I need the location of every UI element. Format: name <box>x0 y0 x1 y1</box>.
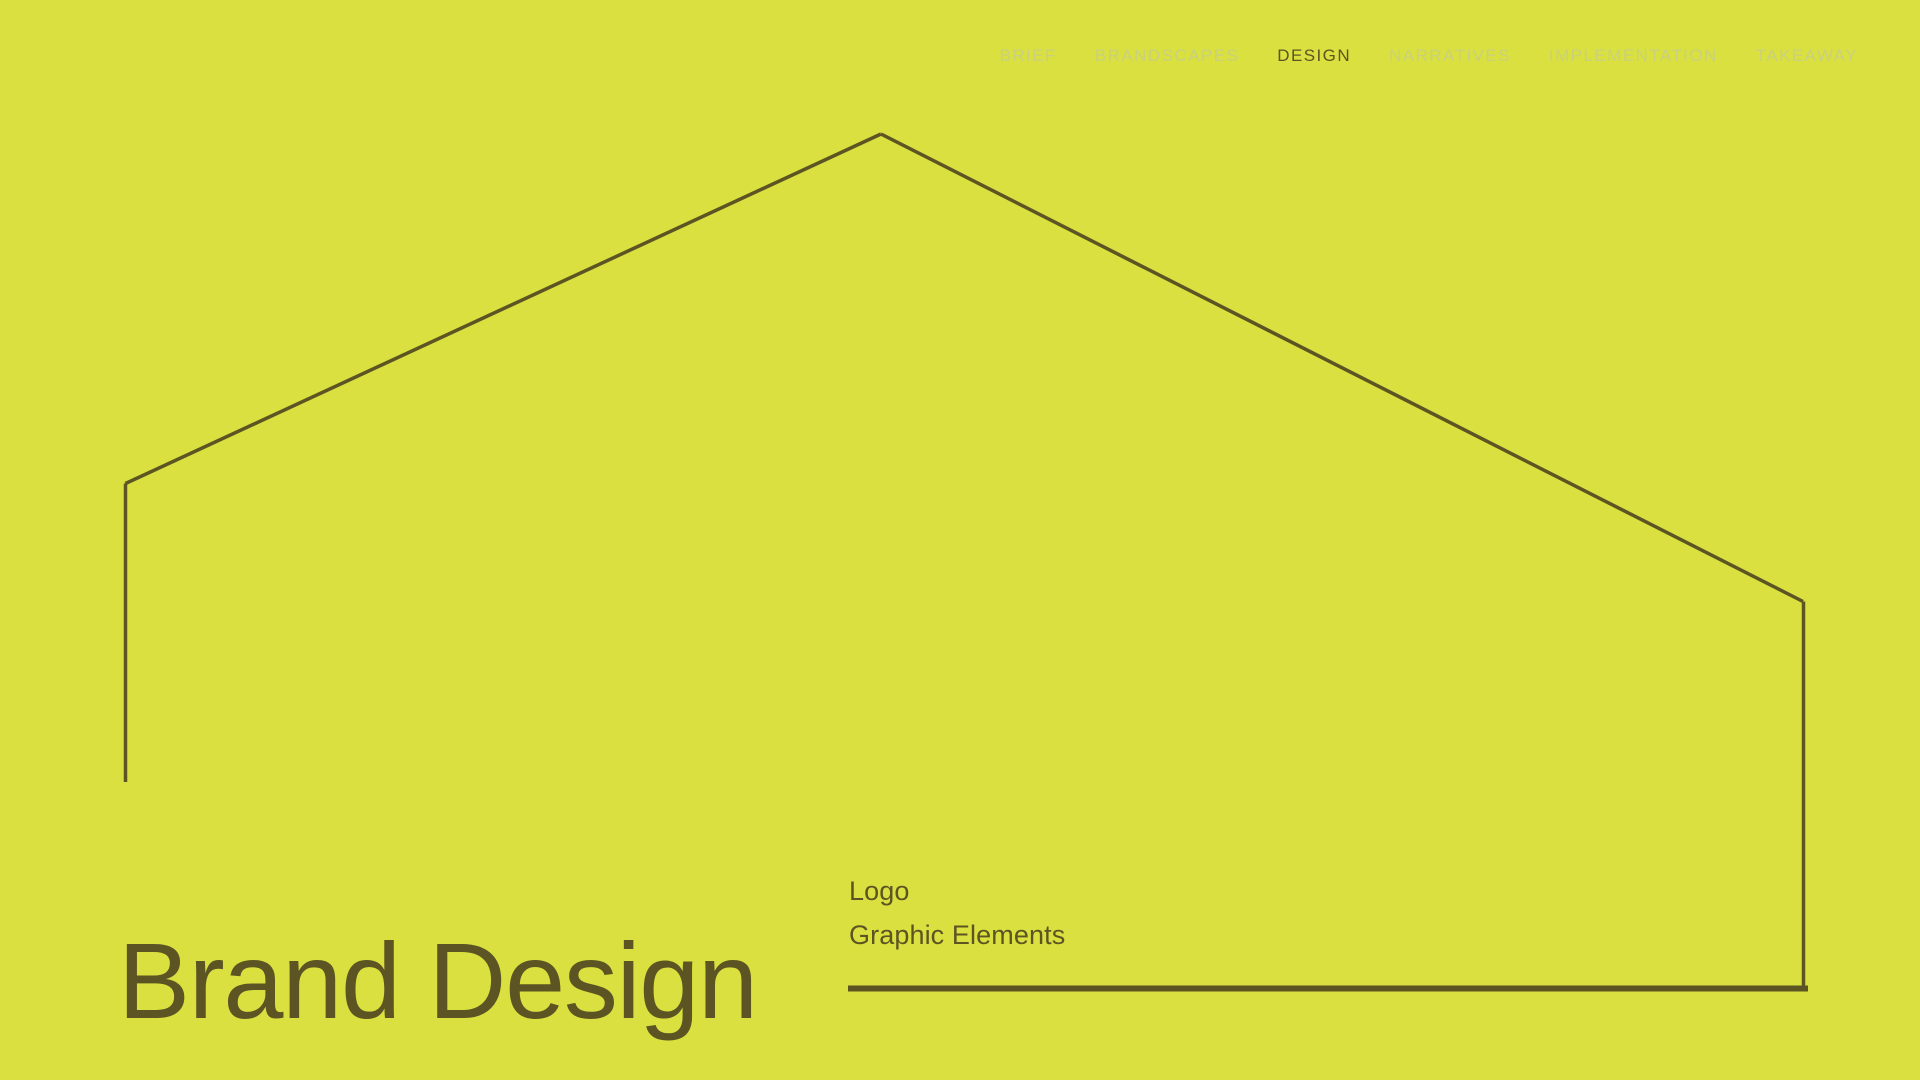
nav-item-brandscapes[interactable]: BRANDSCAPES <box>1095 47 1239 64</box>
nav-item-design[interactable]: DESIGN <box>1277 47 1351 64</box>
nav-item-implementation[interactable]: IMPLEMENTATION <box>1549 47 1718 64</box>
nav-item-takeaway[interactable]: TAKEAWAY <box>1756 47 1858 64</box>
list-item: Logo <box>849 873 1809 909</box>
nav-item-narratives[interactable]: NARRATIVES <box>1389 47 1511 64</box>
bottom-content-row: Brand Design Logo Graphic Elements <box>0 855 1920 1025</box>
detail-list: Logo Graphic Elements <box>849 873 1809 962</box>
page-title: Brand Design <box>118 927 757 1035</box>
slide-root: BRIEF BRANDSCAPES DESIGN NARRATIVES IMPL… <box>0 0 1920 1080</box>
nav-item-brief[interactable]: BRIEF <box>1000 47 1057 64</box>
list-item: Graphic Elements <box>849 917 1809 953</box>
top-navigation: BRIEF BRANDSCAPES DESIGN NARRATIVES IMPL… <box>0 0 1920 110</box>
